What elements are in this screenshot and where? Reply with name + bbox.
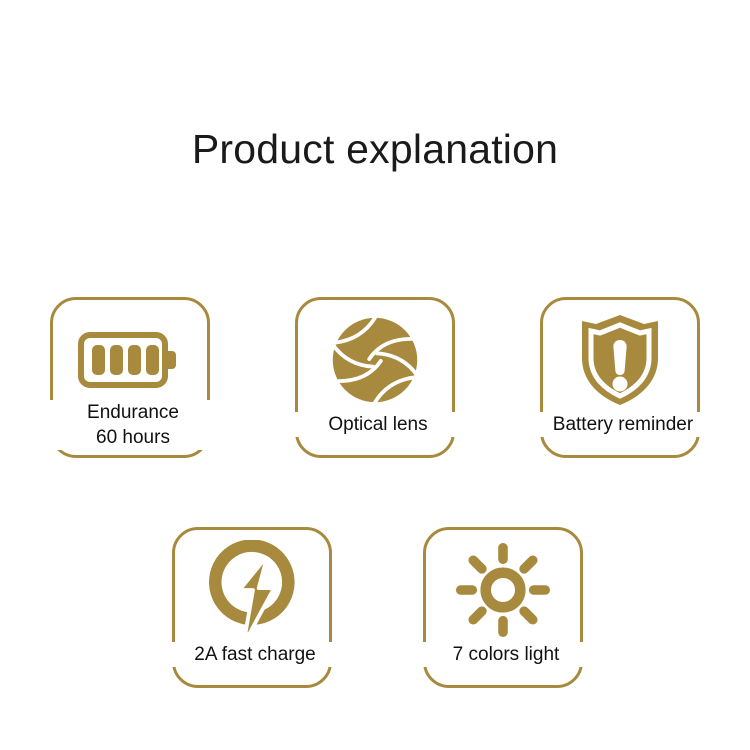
sun-brightness-icon — [426, 544, 580, 636]
feature-label-optical-lens: Optical lens — [270, 412, 486, 437]
feature-card-colors-light[interactable]: 7 colors light — [423, 527, 583, 688]
feature-label-line1: 2A fast charge — [147, 642, 363, 667]
feature-card-fast-charge[interactable]: 2A fast charge — [172, 527, 332, 688]
feature-label-line1: 7 colors light — [398, 642, 614, 667]
feature-label-line1: Endurance — [25, 400, 241, 425]
feature-card-endurance[interactable]: Endurance 60 hours — [50, 297, 210, 458]
battery-icon — [53, 314, 207, 406]
feature-label-line2: 60 hours — [25, 425, 241, 450]
shield-exclamation-icon — [543, 314, 697, 406]
page-title: Product explanation — [0, 126, 750, 173]
feature-card-optical-lens[interactable]: Optical lens — [295, 297, 455, 458]
feature-card-battery-reminder[interactable]: Battery reminder — [540, 297, 700, 458]
feature-label-line1: Optical lens — [270, 412, 486, 437]
feature-label-endurance: Endurance 60 hours — [25, 400, 241, 450]
camera-aperture-icon — [298, 314, 452, 406]
feature-label-colors-light: 7 colors light — [398, 642, 614, 667]
feature-label-battery-reminder: Battery reminder — [515, 412, 731, 437]
feature-label-line1: Battery reminder — [515, 412, 731, 437]
quick-charge-bolt-icon — [175, 544, 329, 636]
product-explanation-page: Product explanation Endurance 60 hours — [0, 0, 750, 750]
feature-label-fast-charge: 2A fast charge — [147, 642, 363, 667]
